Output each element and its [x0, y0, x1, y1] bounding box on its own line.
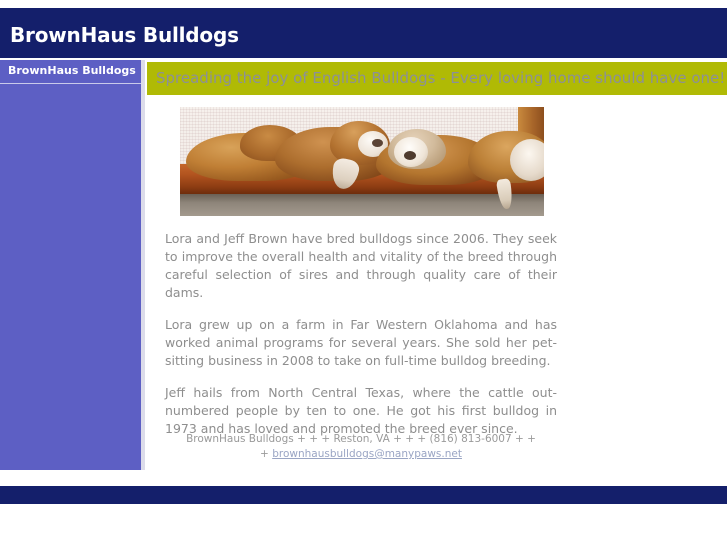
contact-info: BrownHaus Bulldogs + + + Reston, VA + + … [165, 432, 557, 462]
paragraph-3: Jeff hails from North Central Texas, whe… [165, 384, 557, 438]
about-text: Lora and Jeff Brown have bred bulldogs s… [165, 230, 557, 438]
contact-email-link[interactable]: brownhausbulldogs@manypaws.net [272, 448, 462, 460]
footer-band [0, 486, 727, 504]
bulldog-3-nose [404, 151, 416, 160]
tagline-text: Spreading the joy of English Bulldogs - … [156, 69, 725, 87]
paragraph-1: Lora and Jeff Brown have bred bulldogs s… [165, 230, 557, 302]
bulldog-4-head [510, 139, 544, 181]
photo-background [180, 107, 544, 216]
bulldog-2-nose [372, 139, 383, 147]
site-header-band: BrownHaus Bulldogs [0, 8, 727, 58]
sidebar-item-brownhaus-bulldogs[interactable]: BrownHaus Bulldogs [0, 60, 141, 81]
bulldogs-photo [180, 107, 544, 216]
sidebar-divider [0, 83, 141, 84]
contact-line: BrownHaus Bulldogs + + + Reston, VA + + … [186, 433, 536, 445]
contact-plus: + [260, 448, 269, 460]
sidebar: BrownHaus Bulldogs [0, 60, 145, 470]
tagline-banner: Spreading the joy of English Bulldogs - … [147, 62, 727, 95]
paragraph-2: Lora grew up on a farm in Far Western Ok… [165, 316, 557, 370]
page-title: BrownHaus Bulldogs [10, 23, 239, 47]
photo-floor [180, 194, 544, 216]
